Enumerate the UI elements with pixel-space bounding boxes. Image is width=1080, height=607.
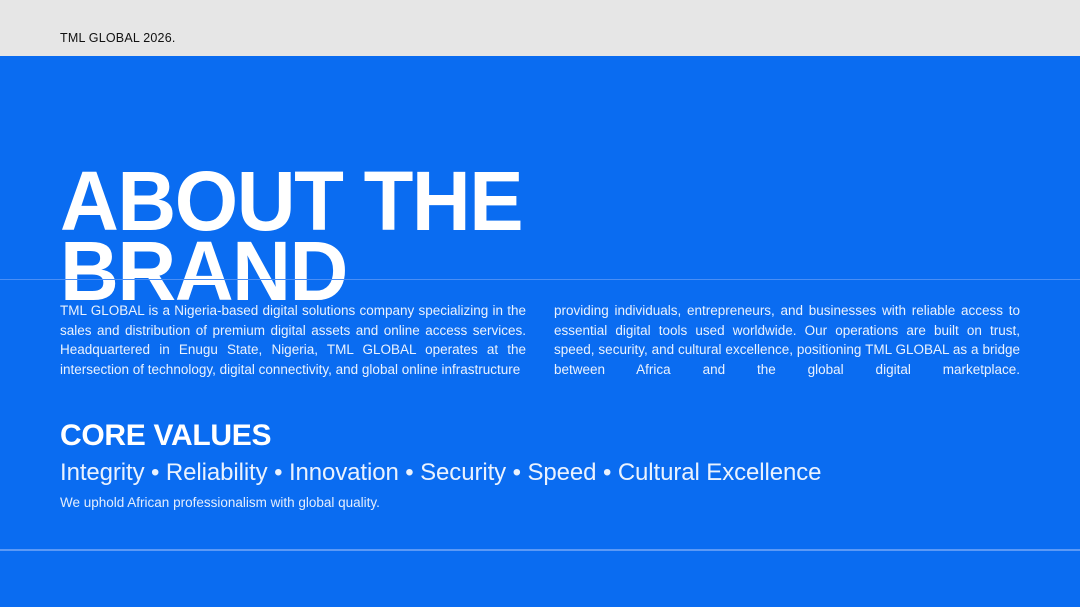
brand-year-label: TML GLOBAL 2026. [60, 31, 176, 45]
slide-about-the-brand: TML GLOBAL 2026. ABOUT THE BRAND TML GLO… [0, 0, 1080, 607]
core-values-heading: CORE VALUES [60, 419, 1020, 453]
core-values-list: Integrity • Reliability • Innovation • S… [60, 459, 1020, 487]
about-columns: TML GLOBAL is a Nigeria-based digital so… [60, 301, 1020, 400]
divider-top [0, 279, 1080, 280]
divider-bottom [0, 549, 1080, 551]
slide-body: ABOUT THE BRAND TML GLOBAL is a Nigeria-… [0, 56, 1080, 607]
page-title-line-2: BRAND [60, 236, 991, 306]
about-paragraph-right: providing individuals, entrepreneurs, an… [554, 301, 1020, 400]
core-values-section: CORE VALUES Integrity • Reliability • In… [60, 419, 1020, 512]
about-paragraph-left: TML GLOBAL is a Nigeria-based digital so… [60, 301, 526, 400]
top-bar: TML GLOBAL 2026. [0, 0, 1080, 56]
core-values-note: We uphold African professionalism with g… [60, 494, 1020, 512]
page-title: ABOUT THE BRAND [60, 166, 991, 306]
